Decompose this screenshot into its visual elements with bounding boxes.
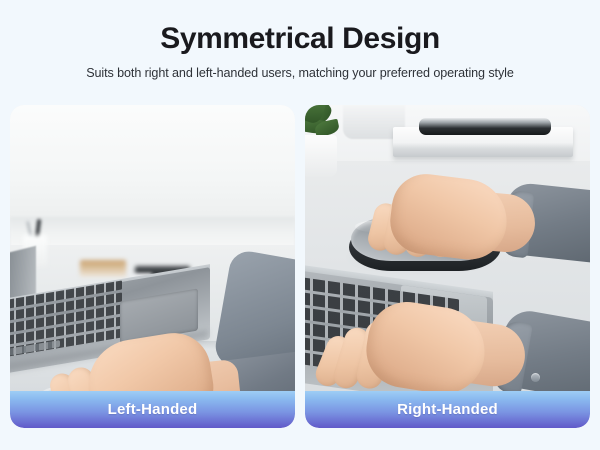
photo-right-handed bbox=[305, 105, 590, 391]
smartphone bbox=[419, 118, 551, 135]
panel-right-handed[interactable]: Right-Handed bbox=[305, 105, 590, 428]
caption-label-right: Right-Handed bbox=[397, 401, 498, 418]
photo-left-handed bbox=[10, 105, 295, 391]
plant-pot bbox=[305, 135, 337, 177]
book bbox=[80, 260, 126, 277]
page-subtitle: Suits both right and left-handed users, … bbox=[0, 56, 600, 81]
product-feature-banner: Symmetrical Design Suits both right and … bbox=[0, 0, 600, 450]
caption-bar-right: Right-Handed bbox=[305, 391, 590, 428]
page-title: Symmetrical Design bbox=[0, 0, 600, 56]
wall-background bbox=[10, 105, 295, 227]
caption-label-left: Left-Handed bbox=[108, 401, 198, 418]
cuff-button bbox=[531, 373, 540, 382]
panel-group: Left-Handed bbox=[10, 105, 590, 428]
panel-left-handed[interactable]: Left-Handed bbox=[10, 105, 295, 428]
header: Symmetrical Design Suits both right and … bbox=[0, 0, 600, 81]
caption-bar-left: Left-Handed bbox=[10, 391, 295, 428]
